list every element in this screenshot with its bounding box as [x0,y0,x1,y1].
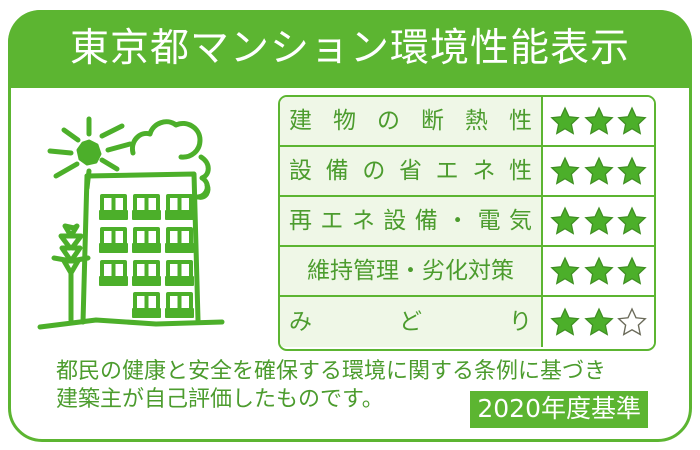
standard-year-badge: 2020年度基準 [470,391,648,428]
rating-stars-cell [543,147,654,195]
rating-stars-cell [543,297,654,347]
eco-apartment-illustration [26,98,266,353]
rating-label: 設備の省エネ性 [289,160,532,183]
cloud-icon [132,122,208,198]
star-filled-icon [617,256,647,286]
rating-label-cell: 維持管理・劣化対策 [280,247,543,295]
rating-label-cell: みどり [280,297,543,347]
rating-label: 建物の断熱性 [289,110,532,133]
star-filled-icon [550,156,580,186]
star-filled-icon [617,206,647,236]
star-outline-icon [617,307,647,337]
header-band: 東京都マンション環境性能表示 [8,10,692,88]
star-filled-icon [584,206,614,236]
star-filled-icon [550,206,580,236]
rating-label: 維持管理・劣化対策 [289,260,532,283]
table-row: みどり [280,297,654,347]
footer: 都民の健康と安全を確保する環境に関する条例に基づき 建築主が自己評価したものです… [56,358,656,428]
footer-line-1: 都民の健康と安全を確保する環境に関する条例に基づき [56,358,656,386]
star-filled-icon [584,156,614,186]
table-row: 設備の省エネ性 [280,147,654,197]
rating-table: 建物の断熱性 設備の省エネ性 再エネ設備・電気 [278,95,656,351]
ground-line [40,320,222,327]
rating-label: みどり [289,311,532,334]
rating-stars-cell [543,247,654,295]
rating-stars-cell [543,97,654,145]
rating-stars-cell [543,197,654,245]
rating-label-cell: 再エネ設備・電気 [280,197,543,245]
table-row: 再エネ設備・電気 [280,197,654,247]
rating-label-cell: 建物の断熱性 [280,97,543,145]
star-filled-icon [584,106,614,136]
tokyo-mansion-environmental-performance-label: 東京都マンション環境性能表示 [0,0,700,450]
star-filled-icon [584,307,614,337]
star-filled-icon [617,156,647,186]
star-filled-icon [617,106,647,136]
star-filled-icon [550,106,580,136]
table-row: 建物の断熱性 [280,97,654,147]
apartment-building-icon [83,174,198,322]
star-filled-icon [550,256,580,286]
star-filled-icon [584,256,614,286]
star-filled-icon [550,307,580,337]
rating-label-cell: 設備の省エネ性 [280,147,543,195]
rating-label: 再エネ設備・電気 [289,210,532,233]
table-row: 維持管理・劣化対策 [280,247,654,297]
page-title: 東京都マンション環境性能表示 [70,29,630,68]
